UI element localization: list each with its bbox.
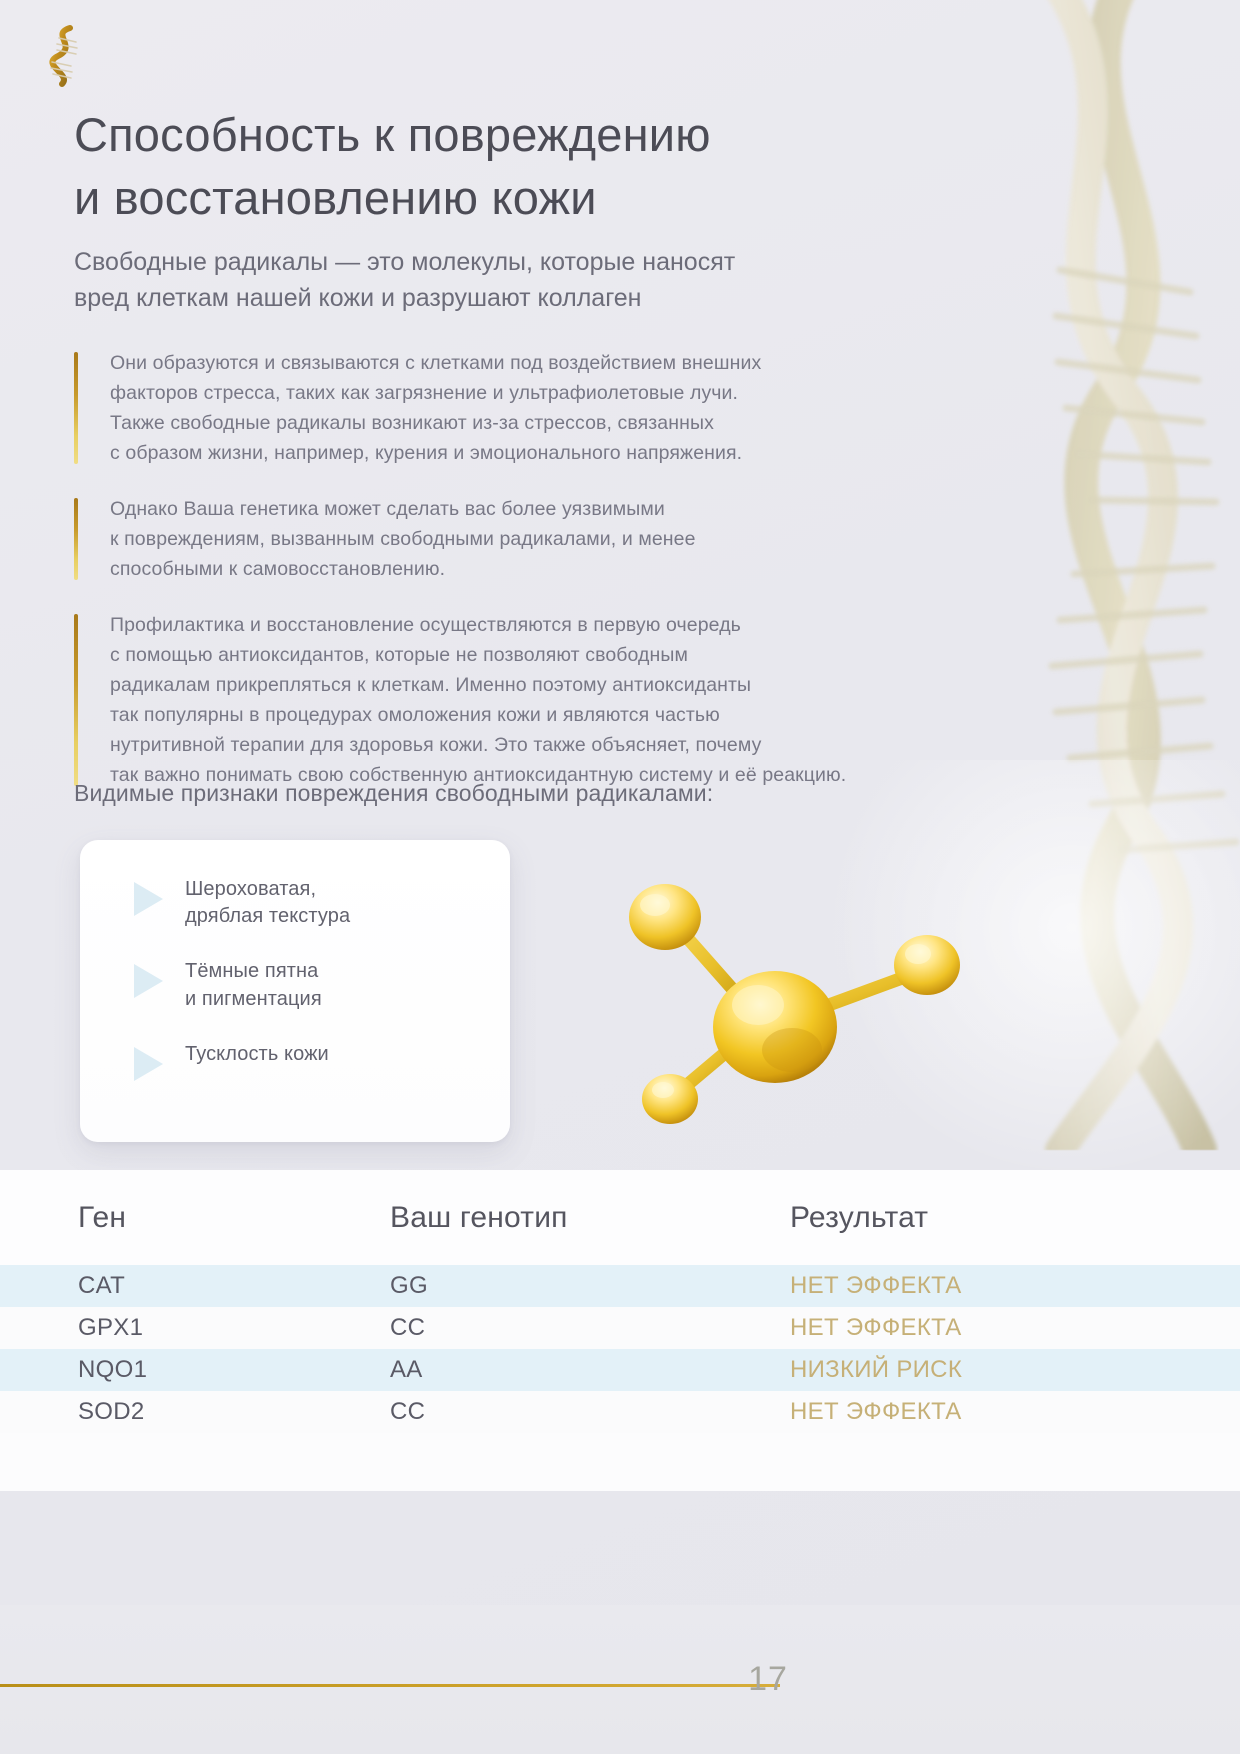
cell-genotype: CC xyxy=(390,1314,790,1342)
column-header-result: Результат xyxy=(790,1201,1240,1235)
list-item: Тусклость кожи xyxy=(108,1041,482,1081)
column-header-genotype: Ваш генотип xyxy=(390,1201,790,1235)
gold-accent-bar xyxy=(74,614,78,786)
table-footer-spacer xyxy=(0,1433,1240,1491)
cell-genotype: CC xyxy=(390,1398,790,1426)
report-page: Способность к повреждению и восстановлен… xyxy=(0,0,1240,1754)
cell-genotype: GG xyxy=(390,1272,790,1300)
cell-genotype: AA xyxy=(390,1356,790,1384)
cell-result: НЕТ ЭФФЕКТА xyxy=(790,1272,1240,1300)
paragraph-text: Профилактика и восстановление осуществля… xyxy=(110,610,954,790)
table-row: NQO1 AA НИЗКИЙ РИСК xyxy=(0,1349,1240,1391)
paragraph-text: Они образуются и связываются с клетками … xyxy=(110,348,954,468)
triangle-bullet-icon xyxy=(134,882,163,916)
list-item-label: Тёмные пятна и пигментация xyxy=(185,958,322,1012)
signs-heading: Видимые признаки повреждения свободными … xyxy=(74,780,713,807)
paragraph-block: Однако Ваша генетика может сделать вас б… xyxy=(74,494,954,584)
gold-accent-bar xyxy=(74,498,78,580)
gold-molecule-illustration xyxy=(575,845,1005,1145)
cell-result: НЕТ ЭФФЕКТА xyxy=(790,1314,1240,1342)
list-item: Тёмные пятна и пигментация xyxy=(108,958,482,1012)
page-title: Способность к повреждению и восстановлен… xyxy=(74,104,954,229)
paragraph-text: Однако Ваша генетика может сделать вас б… xyxy=(110,494,954,584)
dna-helix-icon xyxy=(38,22,90,88)
table-row: SOD2 CC НЕТ ЭФФЕКТА xyxy=(0,1391,1240,1433)
cell-result: НЕТ ЭФФЕКТА xyxy=(790,1398,1240,1426)
page-footer xyxy=(0,1605,1240,1754)
visible-signs-card: Шероховатая, дряблая текстура Тёмные пят… xyxy=(80,840,510,1142)
column-header-gene: Ген xyxy=(0,1201,390,1235)
list-item-label: Шероховатая, дряблая текстура xyxy=(185,876,350,930)
cell-gene: NQO1 xyxy=(0,1356,390,1384)
paragraph-block: Они образуются и связываются с клетками … xyxy=(74,348,954,468)
triangle-bullet-icon xyxy=(134,964,163,998)
results-table: Ген Ваш генотип Результат CAT GG НЕТ ЭФФ… xyxy=(0,1170,1240,1491)
background-fade-overlay xyxy=(820,760,1240,1180)
table-row: CAT GG НЕТ ЭФФЕКТА xyxy=(0,1265,1240,1307)
cell-gene: GPX1 xyxy=(0,1314,390,1342)
list-item-label: Тусклость кожи xyxy=(185,1041,329,1068)
page-subtitle: Свободные радикалы — это молекулы, котор… xyxy=(74,245,954,316)
cell-gene: CAT xyxy=(0,1272,390,1300)
paragraph-list: Они образуются и связываются с клетками … xyxy=(74,348,954,816)
cell-result: НИЗКИЙ РИСК xyxy=(790,1356,1240,1384)
page-number: 17 xyxy=(738,1660,798,1699)
paragraph-block: Профилактика и восстановление осуществля… xyxy=(74,610,954,790)
footer-gold-rule xyxy=(0,1684,780,1687)
table-header: Ген Ваш генотип Результат xyxy=(0,1170,1240,1265)
table-row: GPX1 CC НЕТ ЭФФЕКТА xyxy=(0,1307,1240,1349)
cell-gene: SOD2 xyxy=(0,1398,390,1426)
list-item: Шероховатая, дряблая текстура xyxy=(108,876,482,930)
gold-accent-bar xyxy=(74,352,78,464)
triangle-bullet-icon xyxy=(134,1047,163,1081)
